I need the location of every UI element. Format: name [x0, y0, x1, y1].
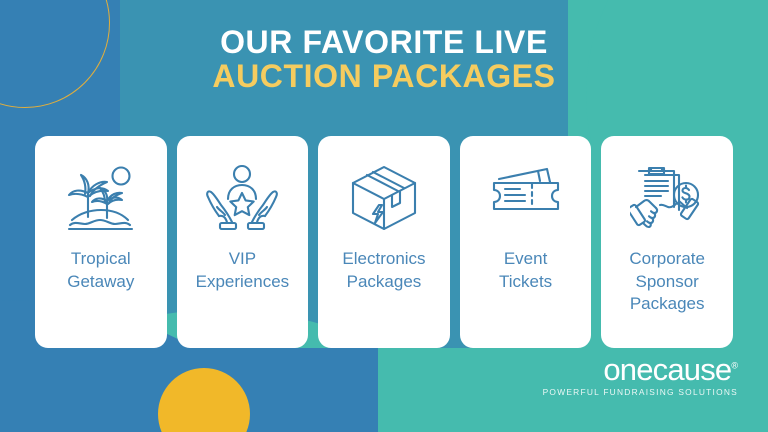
package-card-event-tickets[interactable]: Event Tickets [460, 136, 592, 348]
logo-wordmark-text: onecause [603, 352, 731, 387]
logo-wordmark: onecause® [603, 354, 738, 385]
slide-canvas: OUR FAVORITE LIVE AUCTION PACKAGES [0, 0, 768, 432]
headline-line-2: AUCTION PACKAGES [0, 60, 768, 94]
package-card-electronics[interactable]: Electronics Packages [318, 136, 450, 348]
package-card-vip-experiences[interactable]: VIP Experiences [177, 136, 309, 348]
onecause-logo: onecause® POWERFUL FUNDRAISING SOLUTIONS [543, 354, 738, 396]
package-card-label: Tropical Getaway [61, 248, 140, 293]
palm-island-icon [64, 152, 138, 244]
registered-trademark-icon: ® [731, 360, 738, 370]
hands-holding-star-icon [205, 152, 279, 244]
logo-tagline: POWERFUL FUNDRAISING SOLUTIONS [543, 388, 738, 396]
package-card-label: Electronics Packages [336, 248, 431, 293]
package-card-list: Tropical Getaway VIP Expe [35, 136, 733, 348]
package-card-tropical-getaway[interactable]: Tropical Getaway [35, 136, 167, 348]
package-card-corporate-sponsor[interactable]: Corporate Sponsor Packages [601, 136, 733, 348]
package-card-label: Event Tickets [493, 248, 558, 293]
page-title: OUR FAVORITE LIVE AUCTION PACKAGES [0, 26, 768, 94]
tickets-icon [489, 152, 563, 244]
handshake-clipboard-dollar-icon [630, 152, 704, 244]
box-lightning-icon [347, 152, 421, 244]
package-card-label: Corporate Sponsor Packages [623, 248, 711, 316]
package-card-label: VIP Experiences [190, 248, 296, 293]
headline-line-1: OUR FAVORITE LIVE [0, 26, 768, 60]
